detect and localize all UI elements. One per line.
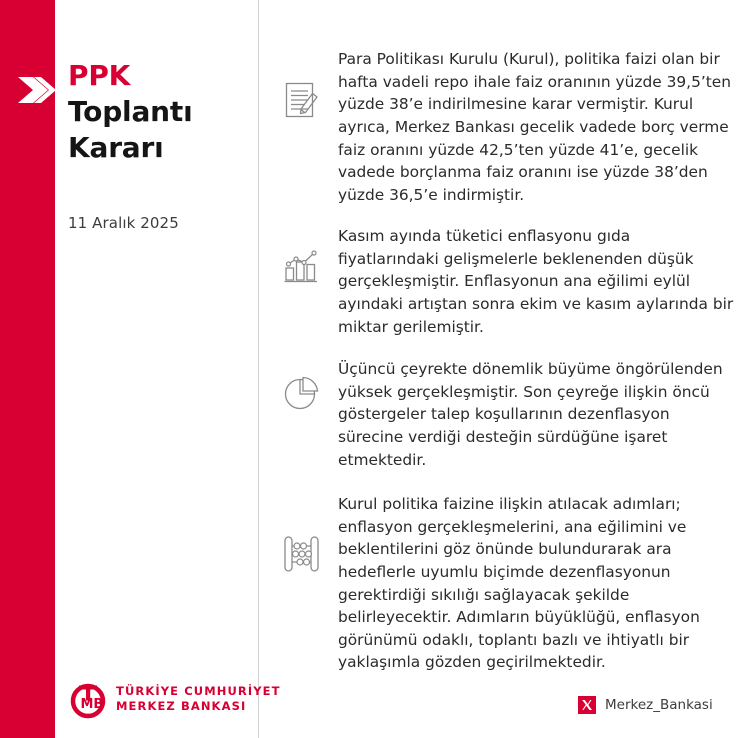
title-line-1: Toplantı [68, 94, 253, 130]
bullet-item: Üçüncü çeyrekte dönemlik büyüme öngörüle… [276, 358, 738, 471]
bullet-item: Kasım ayında tüketici enflasyonu gıda fi… [276, 225, 738, 338]
publication-date: 11 Aralık 2025 [68, 214, 179, 232]
logo-wordmark: TÜRKİYE CUMHURİYET MERKEZ BANKASI [116, 684, 281, 714]
bullet-text: Üçüncü çeyrekte dönemlik büyüme öngörüle… [328, 358, 738, 471]
document-pencil-icon [276, 48, 328, 122]
pie-chart-icon [276, 358, 328, 412]
bullet-text: Kasım ayında tüketici enflasyonu gıda fi… [328, 225, 738, 338]
brand-red-sidebar [0, 0, 55, 738]
bar-chart-trend-icon [276, 225, 328, 285]
ppk-decision-card: PPK Toplantı Kararı 11 Aralık 2025 [0, 0, 750, 738]
tcmb-monogram-icon: MB [68, 679, 108, 719]
bullet-text: Kurul politika faizine ilişkin atılacak … [328, 493, 738, 674]
title-accent: PPK [68, 58, 253, 94]
vertical-divider [258, 0, 259, 738]
social-handle-text[interactable]: Merkez_Bankasi [605, 697, 713, 713]
x-twitter-icon[interactable] [578, 696, 596, 714]
bullet-item: Kurul politika faizine ilişkin atılacak … [276, 493, 738, 674]
logo-line-1: TÜRKİYE CUMHURİYET [116, 684, 281, 699]
abacus-icon [276, 493, 328, 575]
page-title: PPK Toplantı Kararı [68, 58, 253, 165]
tcmb-logo: MB TÜRKİYE CUMHURİYET MERKEZ BANKASI [68, 679, 281, 719]
title-line-2: Kararı [68, 130, 253, 166]
bullet-item: Para Politikası Kurulu (Kurul), politika… [276, 48, 738, 206]
social-handle-group[interactable]: Merkez_Bankasi [578, 696, 713, 714]
header-column: PPK Toplantı Kararı 11 Aralık 2025 [68, 0, 253, 738]
double-chevron-right-icon [14, 68, 58, 112]
svg-text:MB: MB [81, 697, 104, 712]
logo-line-2: MERKEZ BANKASI [116, 699, 281, 714]
bullet-text: Para Politikası Kurulu (Kurul), politika… [328, 48, 738, 206]
